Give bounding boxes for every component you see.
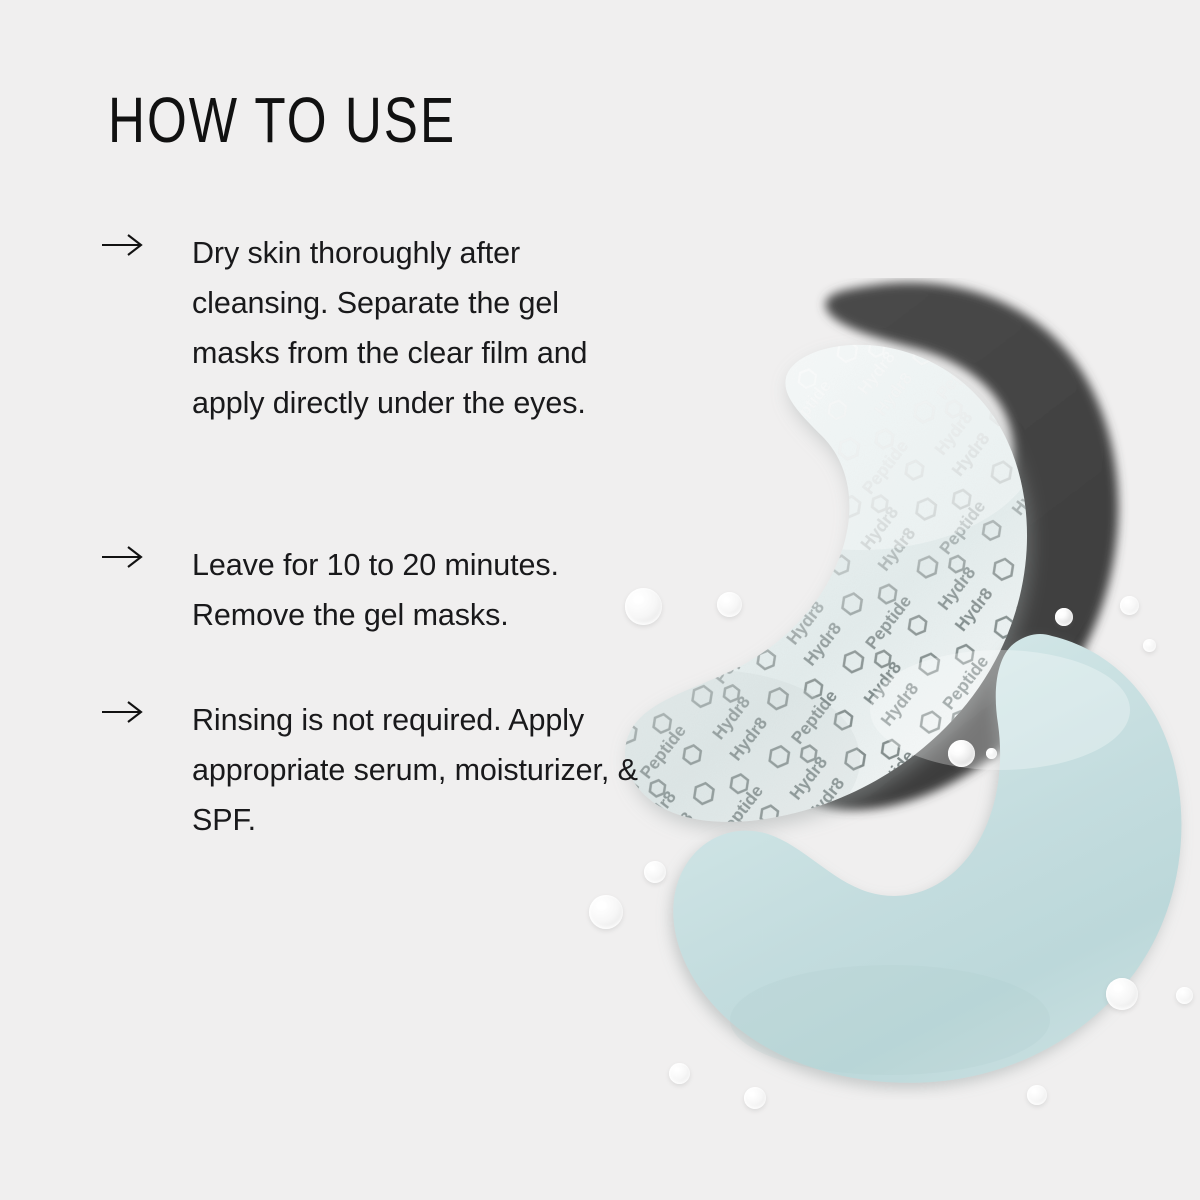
list-item: Rinsing is not required. Apply appropria… — [100, 695, 660, 845]
instructions-text-block: HOW TO USE Dry skin thoroughly after cle… — [0, 0, 1200, 1200]
list-item-label: Leave for 10 to 20 minutes. Remove the g… — [192, 540, 654, 640]
list-item-label: Dry skin thoroughly after cleansing. Sep… — [192, 228, 642, 428]
list-item: Leave for 10 to 20 minutes. Remove the g… — [100, 540, 660, 640]
list-item: Dry skin thoroughly after cleansing. Sep… — [100, 228, 660, 428]
arrow-right-icon — [100, 695, 192, 725]
arrow-right-icon — [100, 540, 192, 570]
how-to-use-panel: Hydr8 Peptide Hydr8 — [0, 0, 1200, 1200]
list-item-label: Rinsing is not required. Apply appropria… — [192, 695, 647, 845]
arrow-right-icon — [100, 228, 192, 258]
page-title: HOW TO USE — [108, 88, 456, 152]
